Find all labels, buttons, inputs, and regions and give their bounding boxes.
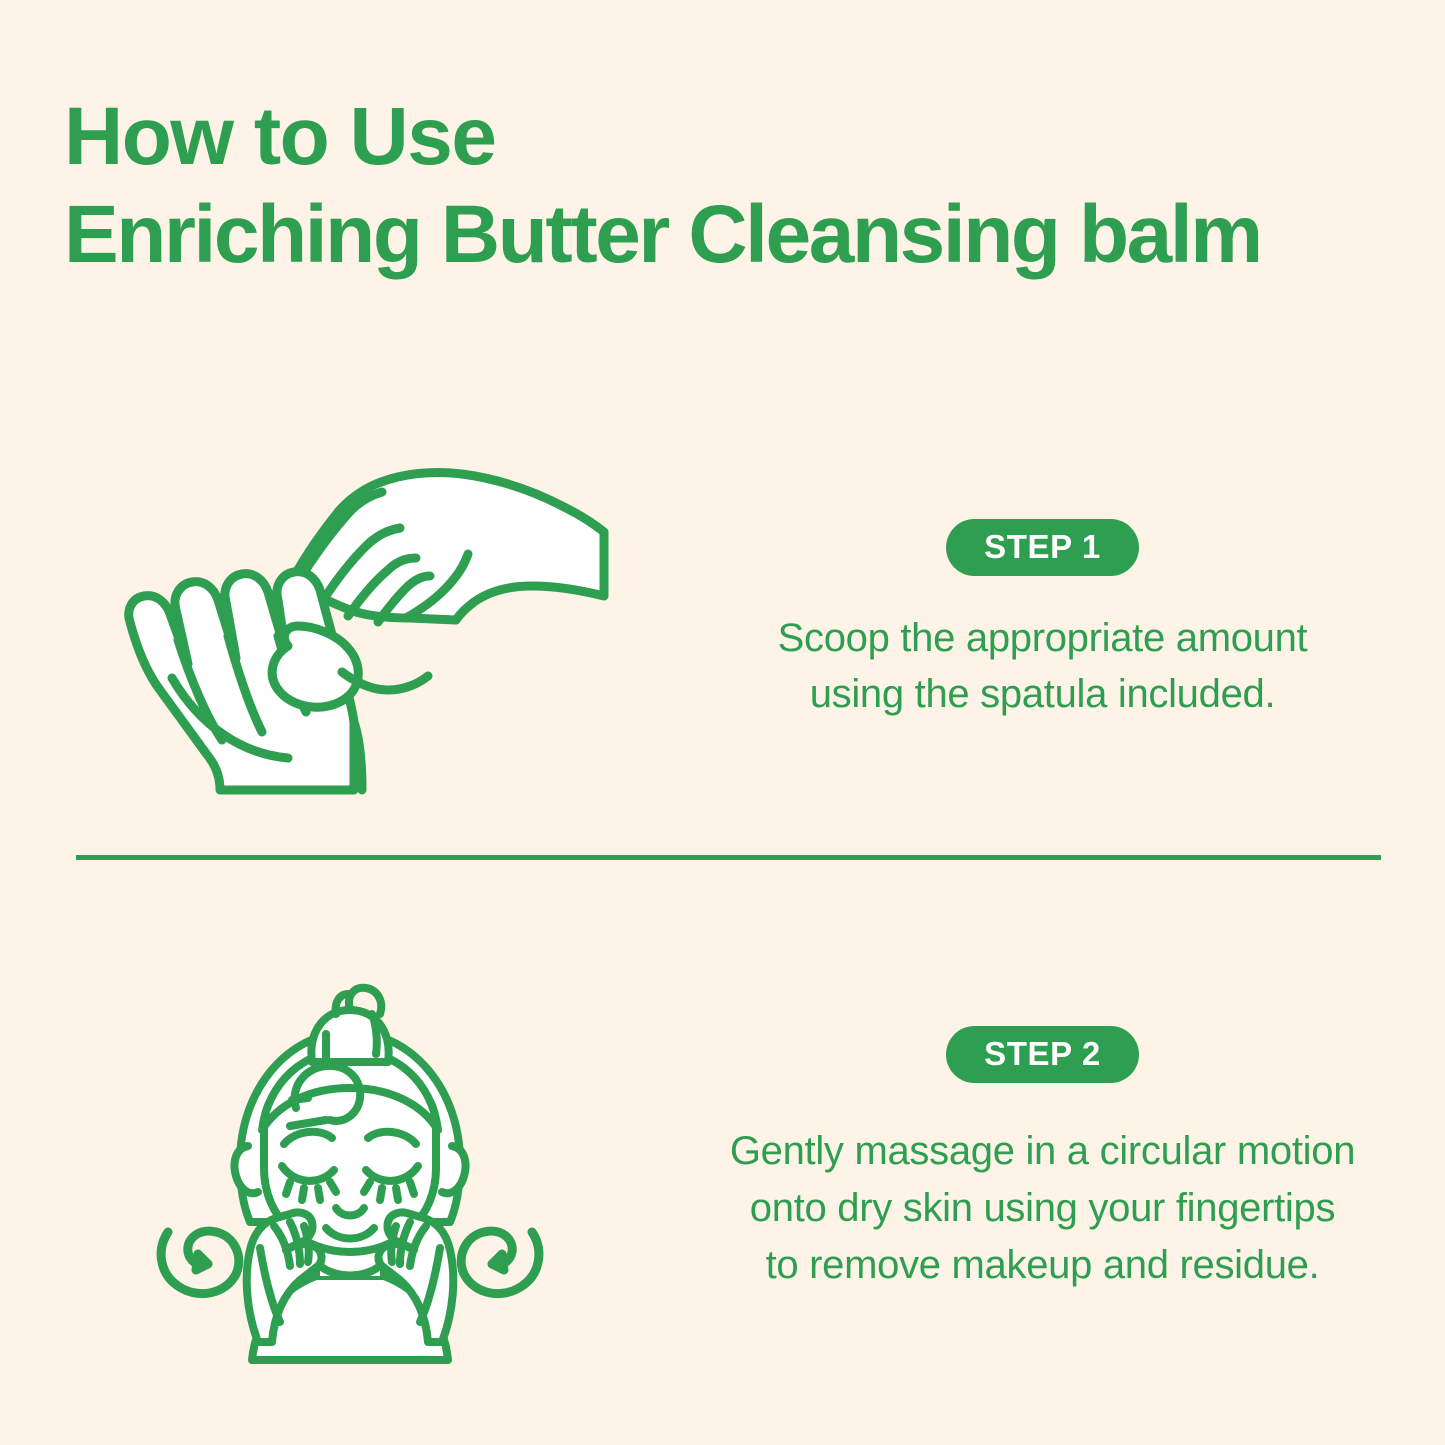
step-2-description: Gently massage in a circular motion onto…	[730, 1123, 1355, 1294]
step-1-description: Scoop the appropriate amount using the s…	[778, 610, 1308, 722]
step-2-row: STEP 2 Gently massage in a circular moti…	[0, 940, 1445, 1380]
step-1-row: STEP 1 Scoop the appropriate amount usin…	[0, 420, 1445, 820]
step-1-badge: STEP 1	[946, 519, 1139, 576]
step-2-badge: STEP 2	[946, 1026, 1139, 1083]
page-title-line-1: How to Use	[64, 88, 1404, 186]
step-1-illustration-container	[0, 440, 700, 800]
page-title-line-2: Enriching Butter Cleansing balm	[64, 186, 1404, 284]
section-divider	[76, 855, 1381, 860]
step-2-illustration-container	[0, 950, 700, 1370]
woman-massaging-face-icon	[140, 950, 560, 1370]
how-to-use-infographic: How to Use Enriching Butter Cleansing ba…	[0, 0, 1445, 1445]
step-1-copy: STEP 1 Scoop the appropriate amount usin…	[700, 519, 1445, 722]
page-title: How to Use Enriching Butter Cleansing ba…	[64, 88, 1404, 284]
step-2-copy: STEP 2 Gently massage in a circular moti…	[700, 1026, 1445, 1294]
hands-scooping-balm-icon	[70, 440, 630, 800]
